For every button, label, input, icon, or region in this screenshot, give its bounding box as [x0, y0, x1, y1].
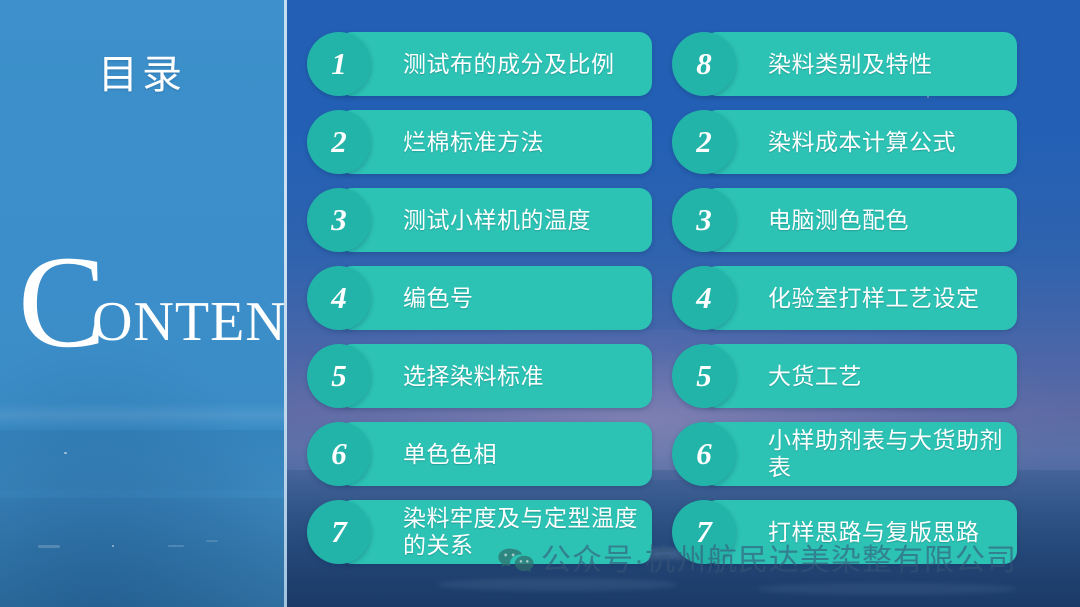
toc-pill[interactable]: 大货工艺: [704, 344, 1017, 408]
toc-item-number: 2: [696, 126, 712, 157]
toc-item-label: 选择染料标准: [403, 363, 544, 390]
toc-item[interactable]: 染料牢度及与定型温度的关系7: [307, 500, 652, 564]
toc-item-number-badge[interactable]: 2: [672, 110, 736, 174]
toc-item-number: 8: [696, 48, 712, 79]
toc-item[interactable]: 单色色相6: [307, 422, 652, 486]
toc-pill[interactable]: 染料类别及特性: [704, 32, 1017, 96]
toc-item-number: 5: [696, 360, 712, 391]
photo-speck: [112, 545, 114, 547]
toc-item-number-badge[interactable]: 4: [307, 266, 371, 330]
toc-item-label: 电脑测色配色: [768, 207, 909, 234]
toc-item-number-badge[interactable]: 3: [672, 188, 736, 252]
toc-item-number-badge[interactable]: 1: [307, 32, 371, 96]
horizon-haze-band: [0, 402, 284, 428]
toc-pill[interactable]: 测试小样机的温度: [339, 188, 652, 252]
toc-item[interactable]: 小样助剂表与大货助剂表6: [672, 422, 1017, 486]
toc-item-number-badge[interactable]: 5: [307, 344, 371, 408]
toc-item-number-badge[interactable]: 2: [307, 110, 371, 174]
toc-pill[interactable]: 单色色相: [339, 422, 652, 486]
toc-item[interactable]: 染料类别及特性8: [672, 32, 1017, 96]
toc-item-number: 7: [696, 516, 712, 547]
toc-item-label: 单色色相: [403, 441, 497, 468]
toc-item-number-badge[interactable]: 8: [672, 32, 736, 96]
slide-canvas: 目录 C ONTENTS 测试布的成分及比例1烂棉标准方法2测试小样机的温度3编…: [0, 0, 1080, 607]
contents-wordmark: C ONTENTS: [14, 252, 284, 362]
toc-item-number-badge[interactable]: 3: [307, 188, 371, 252]
toc-item-label: 染料牢度及与定型温度的关系: [403, 505, 644, 558]
toc-item-number-badge[interactable]: 5: [672, 344, 736, 408]
toc-item-label: 测试布的成分及比例: [403, 51, 615, 78]
toc-item-number-badge[interactable]: 4: [672, 266, 736, 330]
toc-pill[interactable]: 编色号: [339, 266, 652, 330]
toc-item-number-badge[interactable]: 6: [307, 422, 371, 486]
table-of-contents: 测试布的成分及比例1烂棉标准方法2测试小样机的温度3编色号4选择染料标准5单色色…: [287, 0, 1080, 607]
toc-item-number: 3: [331, 204, 347, 235]
toc-item-label: 打样思路与复版思路: [768, 519, 980, 546]
toc-item-label: 编色号: [403, 285, 474, 312]
page-title: 目录: [0, 53, 284, 97]
toc-item[interactable]: 化验室打样工艺设定4: [672, 266, 1017, 330]
toc-item-label: 大货工艺: [768, 363, 862, 390]
toc-item[interactable]: 编色号4: [307, 266, 652, 330]
toc-pill[interactable]: 选择染料标准: [339, 344, 652, 408]
toc-item-number: 7: [331, 516, 347, 547]
toc-item-number: 2: [331, 126, 347, 157]
toc-column-right: 染料类别及特性8染料成本计算公式2电脑测色配色3化验室打样工艺设定4大货工艺5小…: [672, 0, 1027, 607]
toc-item-number-badge[interactable]: 7: [307, 500, 371, 564]
toc-pill[interactable]: 测试布的成分及比例: [339, 32, 652, 96]
toc-item-label: 烂棉标准方法: [403, 129, 544, 156]
photo-speck: [38, 545, 60, 548]
toc-pill[interactable]: 小样助剂表与大货助剂表: [704, 422, 1017, 486]
lower-sea-band: [0, 498, 284, 607]
photo-speck: [64, 452, 67, 454]
toc-pill[interactable]: 染料牢度及与定型温度的关系: [339, 500, 652, 564]
toc-item-label: 小样助剂表与大货助剂表: [768, 427, 1009, 480]
toc-item-label: 化验室打样工艺设定: [768, 285, 980, 312]
toc-item-number: 4: [331, 282, 347, 313]
toc-pill[interactable]: 电脑测色配色: [704, 188, 1017, 252]
toc-item[interactable]: 测试小样机的温度3: [307, 188, 652, 252]
toc-item-label: 染料类别及特性: [768, 51, 933, 78]
toc-item[interactable]: 打样思路与复版思路7: [672, 500, 1017, 564]
toc-pill[interactable]: 烂棉标准方法: [339, 110, 652, 174]
toc-pill[interactable]: 打样思路与复版思路: [704, 500, 1017, 564]
toc-item-number: 3: [696, 204, 712, 235]
toc-item[interactable]: 烂棉标准方法2: [307, 110, 652, 174]
toc-column-left: 测试布的成分及比例1烂棉标准方法2测试小样机的温度3编色号4选择染料标准5单色色…: [307, 0, 662, 607]
toc-item-number-badge[interactable]: 6: [672, 422, 736, 486]
toc-item[interactable]: 测试布的成分及比例1: [307, 32, 652, 96]
toc-item-number: 1: [331, 48, 347, 79]
toc-pill[interactable]: 染料成本计算公式: [704, 110, 1017, 174]
toc-item-number: 6: [331, 438, 347, 469]
toc-item[interactable]: 电脑测色配色3: [672, 188, 1017, 252]
toc-item-number: 5: [331, 360, 347, 391]
photo-speck: [206, 540, 218, 542]
toc-item[interactable]: 选择染料标准5: [307, 344, 652, 408]
toc-pill[interactable]: 化验室打样工艺设定: [704, 266, 1017, 330]
toc-item-number: 6: [696, 438, 712, 469]
toc-item[interactable]: 大货工艺5: [672, 344, 1017, 408]
toc-item-number-badge[interactable]: 7: [672, 500, 736, 564]
toc-item[interactable]: 染料成本计算公式2: [672, 110, 1017, 174]
toc-item-label: 染料成本计算公式: [768, 129, 956, 156]
toc-item-label: 测试小样机的温度: [403, 207, 591, 234]
photo-speck: [168, 545, 184, 547]
toc-item-number: 4: [696, 282, 712, 313]
sea-haze-band: [0, 430, 284, 490]
